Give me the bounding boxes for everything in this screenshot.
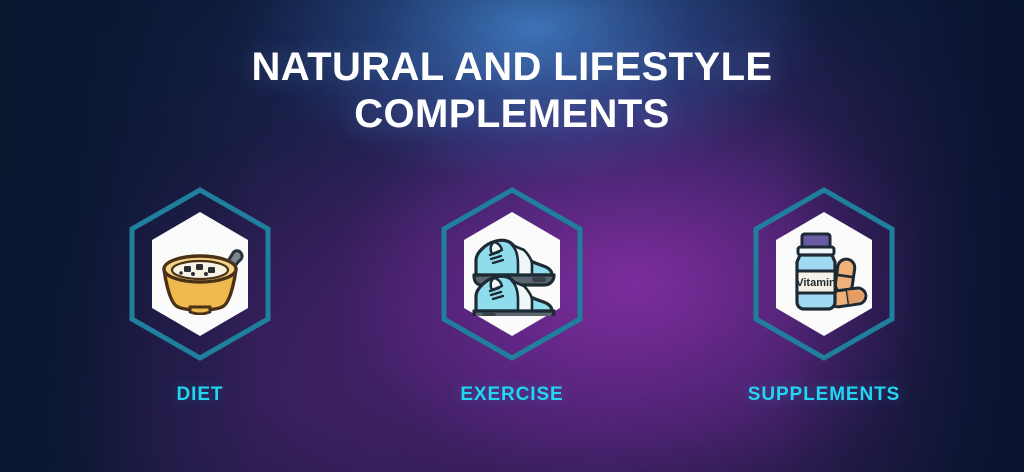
- vitamin-bottle-icon: Vitamin: [777, 230, 871, 318]
- card-diet[interactable]: DIET: [44, 186, 356, 406]
- card-exercise[interactable]: EXERCISE: [356, 186, 668, 406]
- page-title: NATURAL AND LIFESTYLE COMPLEMENTS: [0, 44, 1024, 138]
- page-title-line-2: COMPLEMENTS: [0, 91, 1024, 138]
- card-label-exercise: EXERCISE: [460, 384, 563, 406]
- hexagon-badge-exercise: [436, 186, 588, 362]
- icon-slot-supplements: Vitamin: [748, 186, 900, 362]
- page-title-line-1: NATURAL AND LIFESTYLE: [252, 45, 773, 89]
- hexagon-badge-diet: [124, 186, 276, 362]
- icon-slot-diet: [124, 186, 276, 362]
- vitamin-label-text: Vitamin: [796, 277, 836, 289]
- card-label-supplements: SUPPLEMENTS: [748, 384, 900, 406]
- slide-canvas: NATURAL AND LIFESTYLE COMPLEMENTS: [0, 0, 1024, 472]
- card-label-diet: DIET: [177, 384, 224, 406]
- hexagon-badge-supplements: Vitamin: [748, 186, 900, 362]
- sneakers-icon: [466, 232, 558, 316]
- card-supplements[interactable]: Vitamin SUPPLEMENTS: [668, 186, 980, 406]
- cereal-bowl-icon: [154, 233, 246, 315]
- icon-slot-exercise: [436, 186, 588, 362]
- card-row: DIET: [0, 186, 1024, 406]
